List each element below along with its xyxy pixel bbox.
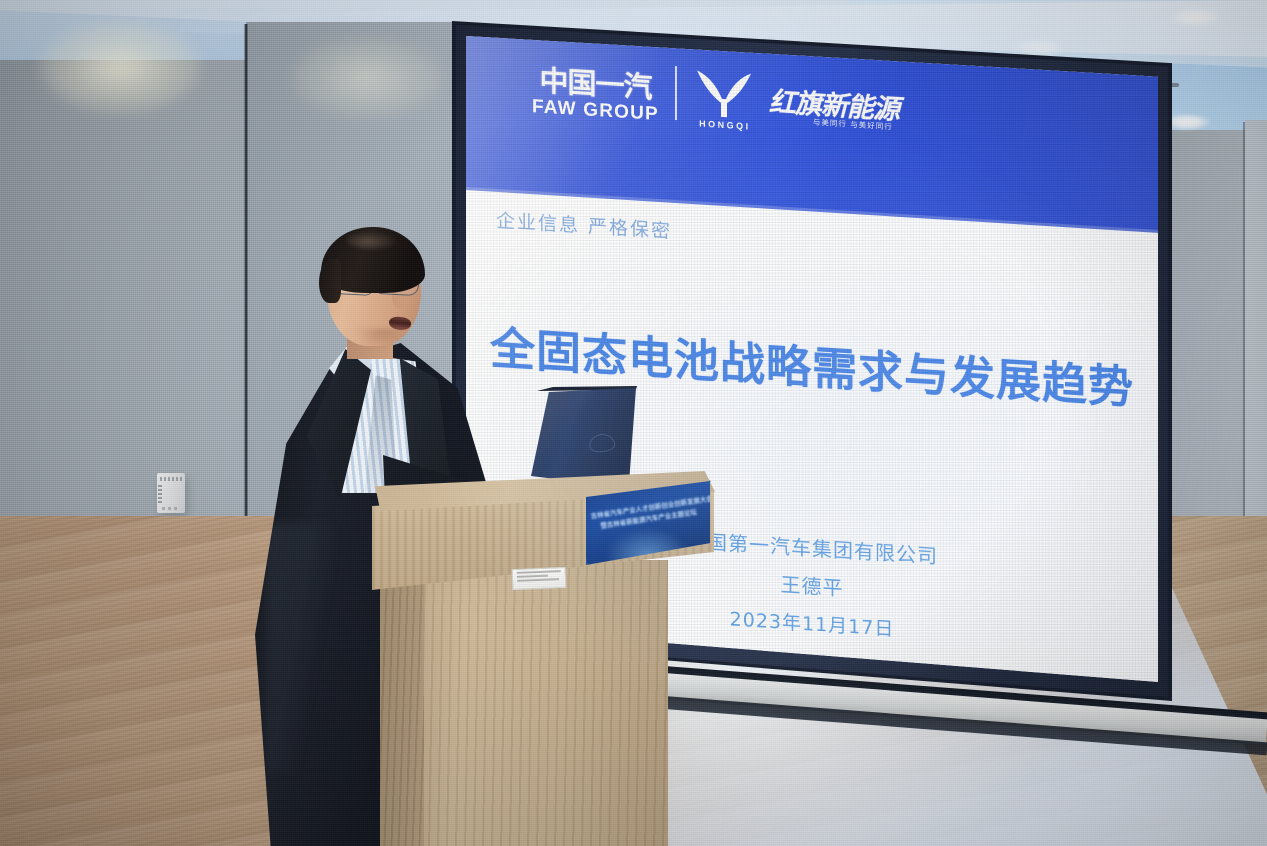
podium-asset-tag [512,567,567,590]
panel-buttons[interactable] [162,507,180,510]
wall-wash-light [40,22,200,112]
panel-vent [158,485,162,503]
hongqi-emblem-icon: HONGQI [693,67,755,131]
ceiling-downlight [1166,6,1226,28]
laptop-lid[interactable] [531,388,636,488]
wall-wash-light [292,38,442,118]
hongqi-brand-lockup: 红旗新能源 与美同行 与美好同行 [769,74,919,141]
photo-scene: 中国一汽 FAW GROUP HONGQI 红旗新能源 与 [0,0,1267,846]
faw-group-logo: 中国一汽 FAW GROUP [532,65,659,125]
logo-divider [675,66,677,120]
panel-label [160,477,182,481]
wall-control-panel[interactable] [157,473,185,513]
podium-body [424,560,668,846]
confidentiality-notice: 企业信息 严格保密 [496,206,672,244]
hair-side [319,259,341,303]
